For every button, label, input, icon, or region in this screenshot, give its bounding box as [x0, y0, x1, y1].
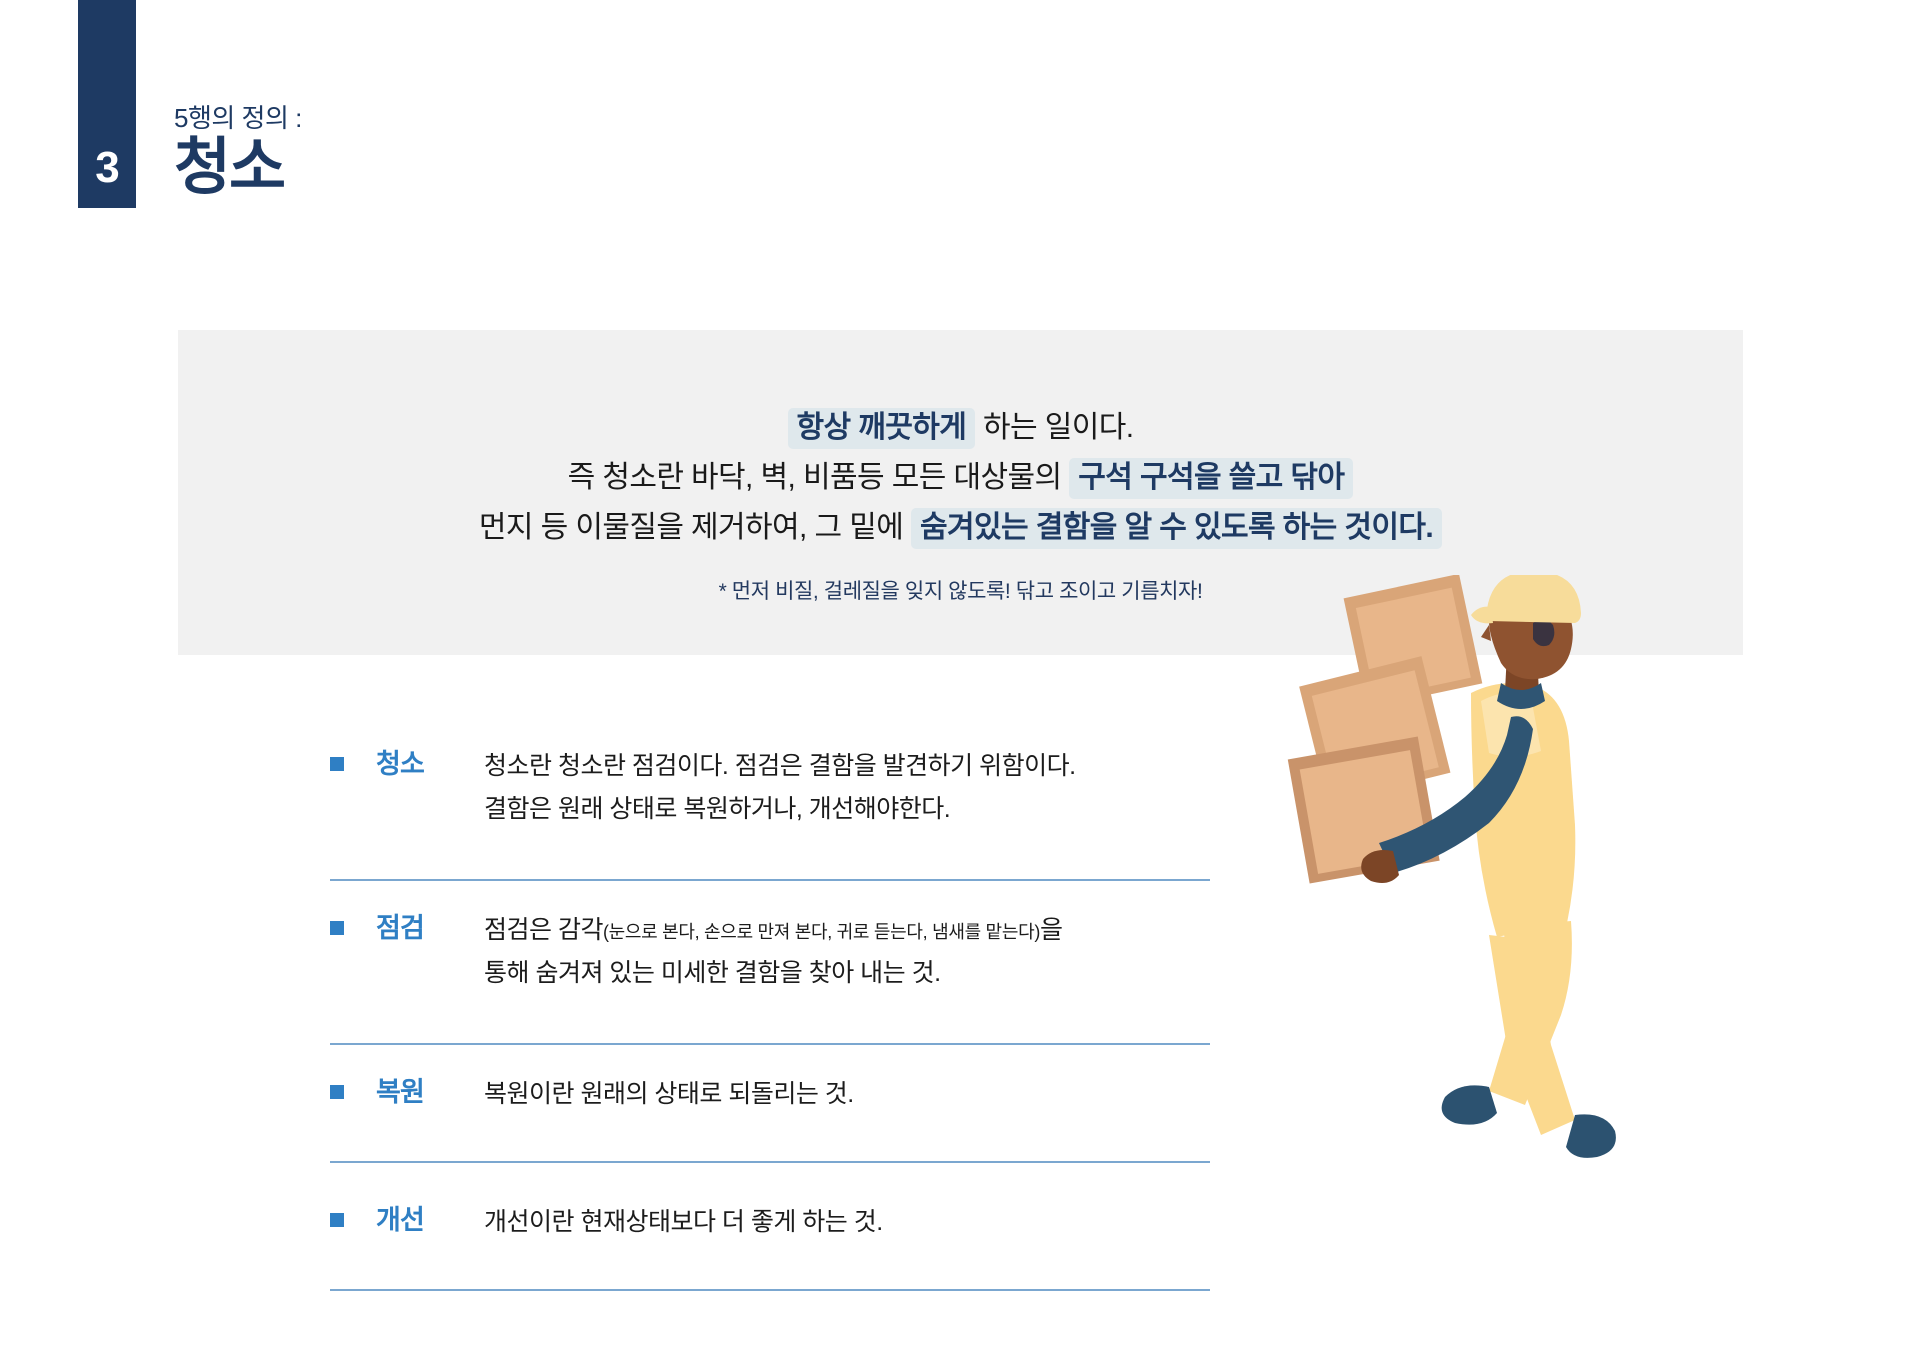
glossary-description: 복원이란 원래의 상태로 되돌리는 것.	[484, 1073, 1210, 1116]
front-shoe	[1442, 1085, 1497, 1124]
hair-tuft	[1533, 619, 1554, 646]
glossary-description-line-1: 청소란 청소란 점검이다. 점검은 결함을 발견하기 위함이다.	[484, 752, 1076, 780]
glossary-list: 청소 청소란 청소란 점검이다. 점검은 결함을 발견하기 위함이다. 결함은 …	[330, 745, 1210, 1291]
definition-line-3: 먼지 등 이물질을 제거하여, 그 밑에 숨겨있는 결함을 알 수 있도록 하는…	[178, 502, 1743, 546]
list-item: 점검 점검은 감각(눈으로 본다, 손으로 만져 본다, 귀로 듣는다, 냄새를…	[330, 909, 1210, 1045]
header-eyebrow: 5행의 정의 :	[174, 98, 302, 135]
definition-line-1-rest: 하는 일이다.	[975, 411, 1133, 444]
back-shoe	[1566, 1114, 1616, 1158]
list-item: 복원 복원이란 원래의 상태로 되돌리는 것.	[330, 1073, 1210, 1163]
glossary-term: 청소	[376, 745, 484, 784]
bullet-square-icon	[330, 921, 344, 935]
bullet-square-icon	[330, 1085, 344, 1099]
glossary-description-line-1-part-b: 을	[1040, 916, 1063, 944]
slide-number: 3	[78, 0, 136, 208]
glossary-description-parenthetical: (눈으로 본다, 손으로 만져 본다, 귀로 듣는다, 냄새를 맡는다)	[603, 922, 1040, 942]
definition-highlight-3: 숨겨있는 결함을 알 수 있도록 하는 것이다.	[911, 508, 1442, 549]
glossary-description-line-1-part-a: 점검은 감각	[484, 916, 603, 944]
glossary-description-line-2: 통해 숨겨져 있는 미세한 결함을 찾아 내는 것.	[484, 959, 941, 987]
list-item: 개선 개선이란 현재상태보다 더 좋게 하는 것.	[330, 1201, 1210, 1291]
hard-hat	[1485, 575, 1581, 623]
bullet-square-icon	[330, 1213, 344, 1227]
definition-line-1: 항상 깨끗하게 하는 일이다.	[178, 402, 1743, 446]
glossary-term: 개선	[376, 1201, 484, 1240]
worker-carrying-boxes-illustration	[1275, 575, 1695, 1175]
definition-line-2: 즉 청소란 바닥, 벽, 비품등 모든 대상물의 구석 구석을 쓸고 닦아	[178, 452, 1743, 496]
definition-highlight-1: 항상 깨끗하게	[788, 408, 976, 449]
definition-line-2-lead: 즉 청소란 바닥, 벽, 비품등 모든 대상물의	[568, 461, 1070, 494]
hard-hat-brim	[1471, 607, 1493, 624]
glossary-description: 개선이란 현재상태보다 더 좋게 하는 것.	[484, 1201, 1210, 1244]
glossary-term: 복원	[376, 1073, 484, 1112]
list-item: 청소 청소란 청소란 점검이다. 점검은 결함을 발견하기 위함이다. 결함은 …	[330, 745, 1210, 881]
glossary-description: 청소란 청소란 점검이다. 점검은 결함을 발견하기 위함이다. 결함은 원래 …	[484, 745, 1210, 831]
glossary-description: 점검은 감각(눈으로 본다, 손으로 만져 본다, 귀로 듣는다, 냄새를 맡는…	[484, 909, 1210, 995]
definition-highlight-2: 구석 구석을 쓸고 닦아	[1069, 458, 1353, 499]
definition-line-3-lead: 먼지 등 이물질을 제거하여, 그 밑에	[479, 511, 911, 544]
page-title: 청소	[174, 135, 284, 200]
glossary-description-line-2: 결함은 원래 상태로 복원하거나, 개선해야한다.	[484, 795, 950, 823]
glossary-term: 점검	[376, 909, 484, 948]
bullet-square-icon	[330, 757, 344, 771]
